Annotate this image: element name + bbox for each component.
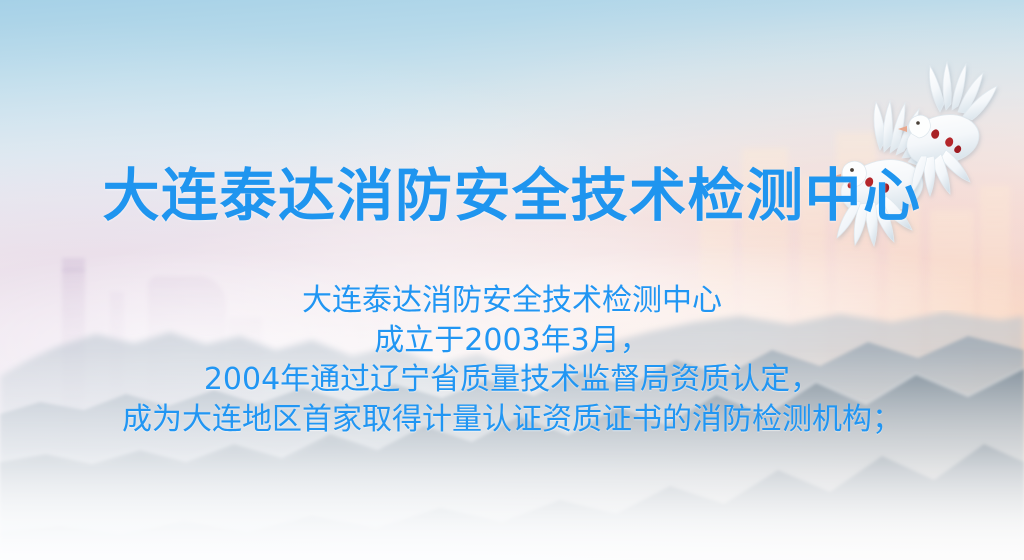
- description-line-4: 成为大连地区首家取得计量认证资质证书的消防检测机构；: [0, 400, 1024, 440]
- promo-banner: 大连泰达消防安全技术检测中心 大连泰达消防安全技术检测中心 成立于2003年3月…: [0, 0, 1024, 560]
- banner-description: 大连泰达消防安全技术检测中心 成立于2003年3月， 2004年通过辽宁省质量技…: [0, 281, 1024, 439]
- description-line-2: 成立于2003年3月，: [0, 321, 1024, 361]
- description-line-3: 2004年通过辽宁省质量技术监督局资质认定，: [0, 360, 1024, 400]
- description-line-1: 大连泰达消防安全技术检测中心: [0, 281, 1024, 321]
- banner-content: 大连泰达消防安全技术检测中心 大连泰达消防安全技术检测中心 成立于2003年3月…: [0, 0, 1024, 560]
- page-title: 大连泰达消防安全技术检测中心: [0, 166, 1024, 228]
